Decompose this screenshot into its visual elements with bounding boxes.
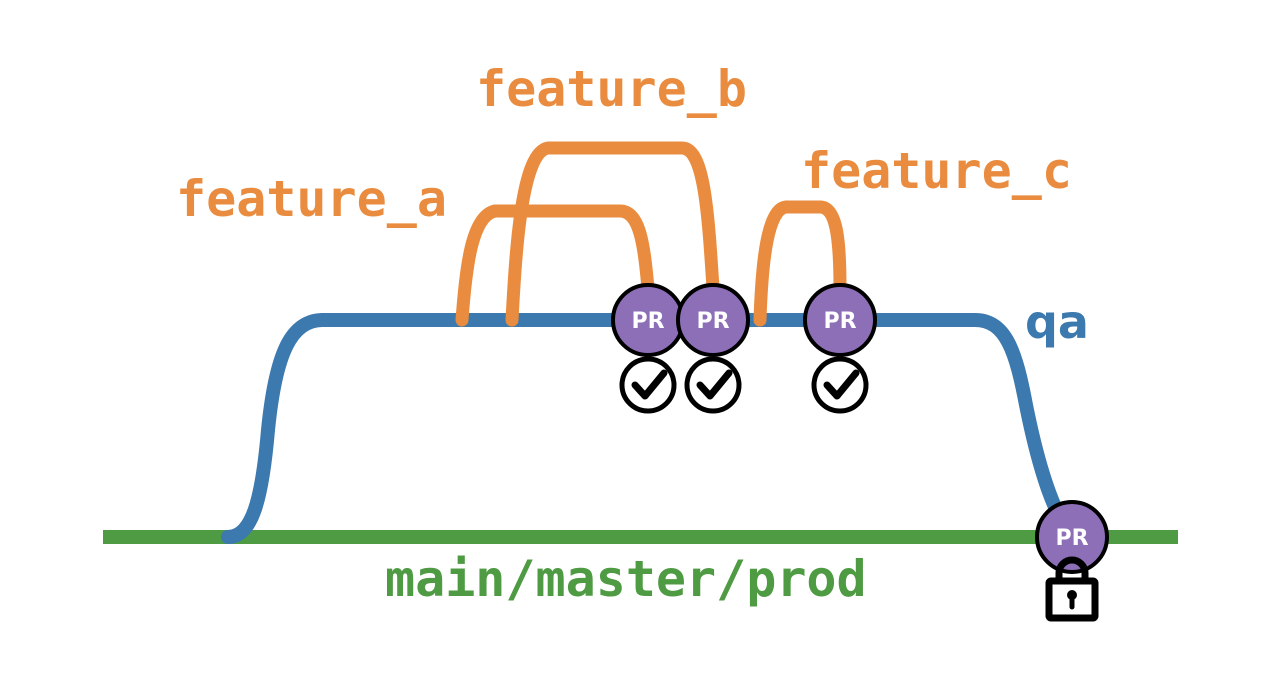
feature-b-branch-line xyxy=(512,148,713,320)
check-circle-icon xyxy=(814,359,866,411)
pr-node-feature-a[interactable]: PR xyxy=(613,285,683,355)
branch-graph: PR PR PR PR xyxy=(0,0,1288,678)
check-circle-icon xyxy=(687,359,739,411)
pr-label: PR xyxy=(1055,526,1088,551)
qa-label: qa xyxy=(1025,295,1089,349)
pr-label: PR xyxy=(631,309,664,334)
git-branching-diagram: PR PR PR PR xyxy=(0,0,1288,678)
check-circle-icon xyxy=(622,359,674,411)
pr-node-feature-b[interactable]: PR xyxy=(678,285,748,355)
pr-label: PR xyxy=(823,309,856,334)
feature-c-label: feature_c xyxy=(801,142,1072,200)
main-branch-label: main/master/prod xyxy=(385,550,867,608)
feature-a-label: feature_a xyxy=(176,170,447,228)
feature-b-label: feature_b xyxy=(476,60,747,118)
pr-label: PR xyxy=(696,309,729,334)
pr-node-feature-c[interactable]: PR xyxy=(805,285,875,355)
